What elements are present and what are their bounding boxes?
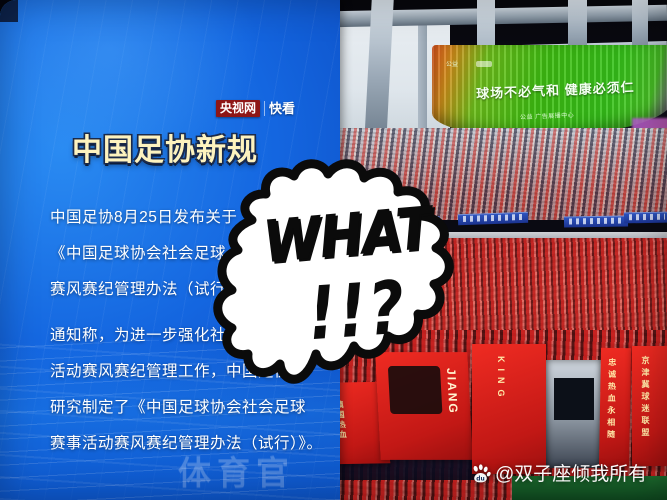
screenshot-canvas: 公益 球场不必气和 健康必须仁 公益 广告展播中心 镇国热血 JIANG KIN… [0,0,667,500]
supporter-flag-text: 京津冀球迷联盟 [640,356,651,440]
bubble-marks: !!? [279,262,435,358]
supporter-flag: KING [472,344,546,474]
channel-logo-badge: 央视网 [216,100,260,117]
led-banner-text: 球场不必气和 健康必须仁 [476,75,667,103]
channel-logo: 央视网 快看 [216,100,295,117]
news-line: 赛风赛纪管理办法（试行） [50,272,242,308]
led-banner-mark: 公益 [446,59,458,68]
supporter-flag-text: 忠诚热血永相随 [605,358,617,442]
led-banner-subtext: 公益 广告展播中心 [520,110,575,121]
news-line: 中国足协8月25日发布关于 [50,200,242,236]
news-paragraph-1: 中国足协8月25日发布关于 《中国足球协会社会足球 赛风赛纪管理办法（试行） [50,200,242,308]
user-watermark-handle: @双子座倾我所有 [495,465,647,484]
news-line: 研究制定了《中国足球协会社会足球 [50,390,323,426]
stand-banner [564,215,628,227]
stadium-structure-box [546,360,602,468]
panel-watermark: 体育官 [178,446,295,494]
stand-banner [624,212,667,224]
news-line: 《中国足球协会社会足球 [50,236,242,272]
led-banner-logo [476,61,492,67]
what-speech-bubble: WHAT !!? [222,158,462,393]
baidu-paw-icon: du [470,464,491,485]
supporter-flag: 忠诚热血永相随 [599,348,631,467]
stand-banner [458,212,528,225]
channel-logo-divider [264,101,265,116]
baidu-paw-icon-label: du [476,477,484,483]
supporter-flag-text: KING [496,356,506,403]
user-watermark: du @双子座倾我所有 [470,464,647,485]
supporter-flag: 京津冀球迷联盟 [632,346,667,466]
channel-logo-label: 快看 [269,102,295,115]
